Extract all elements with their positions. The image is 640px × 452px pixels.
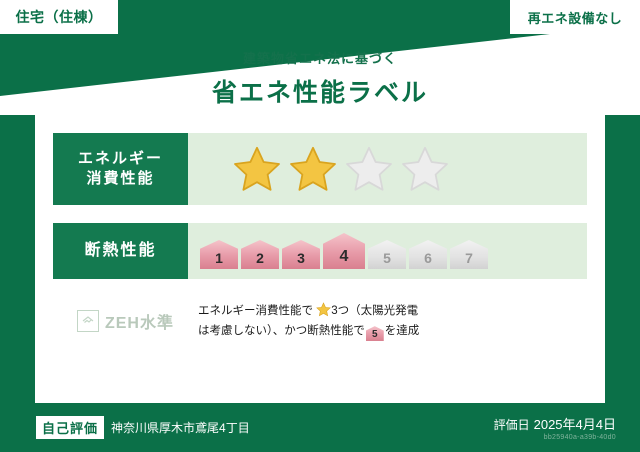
self-evaluation-badge: 自己評価: [36, 416, 104, 439]
footer-right: 評価日2025年4月4日 bb25940a-a39b-40d0: [494, 414, 616, 441]
badge-number: 3: [297, 250, 305, 266]
insulation-level-badge: 5: [368, 240, 406, 269]
star-filled-icon: [233, 145, 281, 193]
energy-performance-label-l2: 消費性能: [86, 169, 154, 189]
evaluation-date: 評価日2025年4月4日: [494, 414, 616, 433]
insulation-performance-label-text: 断熱性能: [84, 240, 156, 262]
zeh-description-line1: エネルギー消費性能で 3つ（太陽光発電: [198, 301, 419, 321]
zeh-label: ZEH水準: [105, 309, 174, 333]
energy-performance-row: エネルギー 消費性能: [53, 133, 587, 205]
zeh-section: ZEH水準 エネルギー消費性能で 3つ（太陽光発電 は考慮しない）、かつ断熱性能…: [53, 301, 587, 341]
badge-number: 4: [340, 248, 349, 266]
page-title: 省エネ性能ラベル: [0, 73, 640, 109]
insulation-level-badges: 1234567: [200, 233, 488, 269]
evaluation-id: bb25940a-a39b-40d0: [494, 434, 616, 441]
energy-performance-body: [188, 145, 587, 193]
renewable-equipment-tag: 再エネ設備なし: [510, 0, 640, 34]
footer: 自己評価 神奈川県厚木市鳶尾4丁目 評価日2025年4月4日 bb25940a-…: [0, 403, 640, 452]
energy-label-page: 住宅（住棟） 再エネ設備なし 建築物省エネ法に基づく 省エネ性能ラベル エネルギ…: [0, 0, 640, 452]
inline-level-badge: 5: [366, 326, 384, 341]
insulation-performance-label: 断熱性能: [53, 223, 188, 279]
insulation-performance-body: 1234567: [188, 233, 587, 269]
badge-number: 1: [215, 250, 223, 266]
inline-star-icon: [316, 302, 331, 317]
badge-number: 2: [256, 250, 264, 266]
label-card: エネルギー 消費性能 断熱性能 1234567: [35, 105, 605, 403]
zeh-desc-line2-a: は考慮しない）、かつ断熱性能で: [198, 325, 365, 337]
insulation-level-badge: 2: [241, 240, 279, 269]
zeh-description: エネルギー消費性能で 3つ（太陽光発電 は考慮しない）、かつ断熱性能で5を達成: [198, 301, 419, 341]
title-subtitle: 建築物省エネ法に基づく: [0, 48, 640, 67]
insulation-level-badge: 4: [323, 233, 365, 269]
star-rating: [233, 145, 449, 193]
evaluation-date-label: 評価日: [494, 418, 530, 432]
insulation-performance-row: 断熱性能 1234567: [53, 223, 587, 279]
badge-number: 7: [465, 250, 473, 266]
house-icon: [77, 310, 99, 332]
star-empty-icon: [401, 145, 449, 193]
badge-number: 5: [383, 250, 391, 266]
insulation-level-badge: 1: [200, 240, 238, 269]
evaluation-date-value: 2025年4月4日: [534, 417, 616, 432]
energy-performance-label-l1: エネルギー: [78, 149, 163, 169]
zeh-description-line2: は考慮しない）、かつ断熱性能で5を達成: [198, 321, 419, 341]
inline-level-badge-num: 5: [372, 329, 378, 340]
badge-number: 6: [424, 250, 432, 266]
energy-performance-label: エネルギー 消費性能: [53, 133, 188, 205]
zeh-desc-line1-b: 3つ（太陽光発電: [331, 305, 418, 317]
address-text: 神奈川県厚木市鳶尾4丁目: [111, 419, 250, 436]
building-type-tag: 住宅（住棟）: [0, 0, 118, 34]
title-block: 建築物省エネ法に基づく 省エネ性能ラベル: [0, 48, 640, 109]
insulation-level-badge: 6: [409, 240, 447, 269]
insulation-level-badge: 3: [282, 240, 320, 269]
star-filled-icon: [289, 145, 337, 193]
insulation-level-badge: 7: [450, 240, 488, 269]
zeh-mark: ZEH水準: [53, 309, 198, 333]
star-empty-icon: [345, 145, 393, 193]
zeh-desc-line2-b: を達成: [385, 325, 420, 337]
zeh-desc-line1-a: エネルギー消費性能で: [198, 305, 313, 317]
